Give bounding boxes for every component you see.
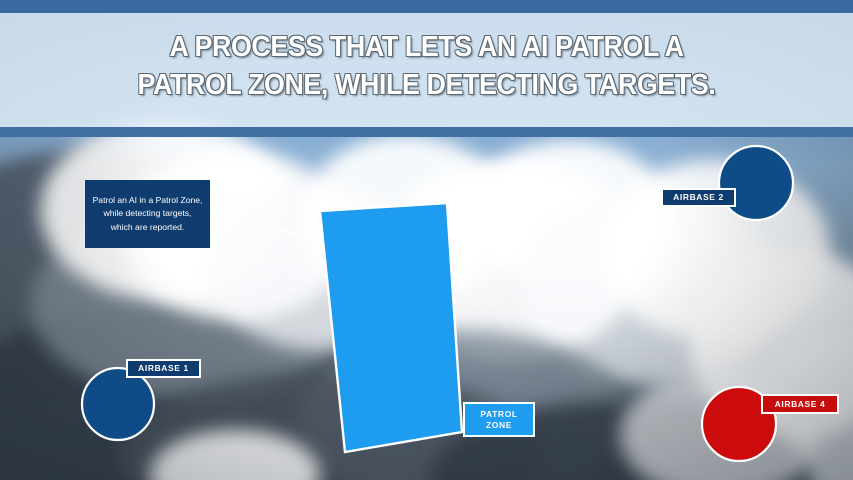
label-airbase-4[interactable]: AIRBASE 4	[761, 394, 839, 414]
callout-box: Patrol an AI in a Patrol Zone, while det…	[85, 180, 210, 248]
callout-connector-line	[210, 204, 322, 244]
label-airbase-1-text: AIRBASE 1	[138, 363, 189, 374]
label-airbase-2[interactable]: AIRBASE 2	[661, 188, 736, 207]
label-airbase-4-text: AIRBASE 4	[775, 399, 826, 410]
patrol-zone-polygon[interactable]	[320, 203, 462, 452]
label-airbase-2-text: AIRBASE 2	[673, 192, 724, 203]
callout-text: Patrol an AI in a Patrol Zone, while det…	[93, 194, 203, 235]
label-airbase-1[interactable]: AIRBASE 1	[126, 359, 201, 378]
airbase-1-marker[interactable]	[82, 368, 154, 440]
slide-canvas: A PROCESS THAT LETS AN AI PATROL A PATRO…	[0, 0, 853, 480]
label-patrol-zone-text: PATROL ZONE	[480, 409, 517, 431]
label-patrol-zone[interactable]: PATROL ZONE	[463, 402, 535, 437]
airbase-2-marker[interactable]	[719, 146, 793, 220]
